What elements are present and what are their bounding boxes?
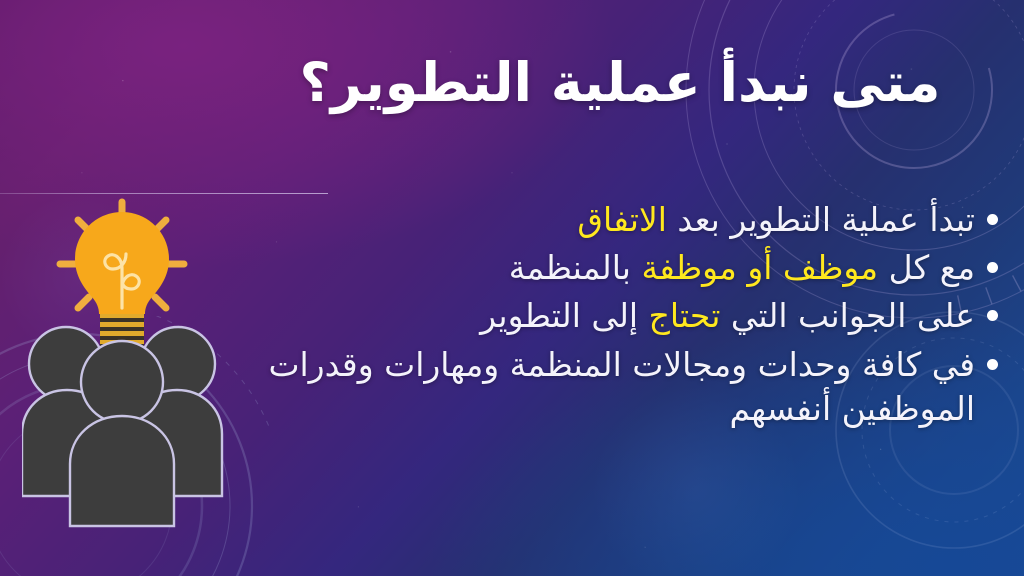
lightbulb-over-people-illustration	[22, 196, 262, 576]
bullet-text-1: تبدأ عملية التطوير بعد الاتفاق	[252, 198, 975, 242]
highlighted-phrase: تحتاج	[649, 296, 721, 335]
highlighted-phrase: الاتفاق	[577, 200, 667, 239]
highlighted-phrase: موظف أو موظفة	[641, 248, 878, 287]
plain-phrase: إلى التطوير	[480, 296, 648, 335]
bullet-text-4: في كافة وحدات ومجالات المنظمة ومهارات وق…	[252, 343, 975, 431]
list-item: في كافة وحدات ومجالات المنظمة ومهارات وق…	[252, 343, 998, 431]
list-item: مع كل موظف أو موظفة بالمنظمة	[252, 246, 998, 290]
bullet-text-2: مع كل موظف أو موظفة بالمنظمة	[252, 246, 975, 290]
plain-phrase: مع كل	[878, 248, 975, 287]
bullet-dot-icon	[987, 310, 998, 321]
bullet-dot-icon	[987, 214, 998, 225]
header-divider	[0, 193, 328, 194]
plain-phrase: على الجوانب التي	[720, 296, 975, 335]
bullet-text-3: على الجوانب التي تحتاج إلى التطوير	[252, 294, 975, 338]
bullet-dot-icon	[987, 262, 998, 273]
person-silhouette-center	[70, 341, 174, 526]
plain-phrase: بالمنظمة	[509, 248, 642, 287]
list-item: تبدأ عملية التطوير بعد الاتفاق	[252, 198, 998, 242]
slide-canvas: متى نبدأ عملية التطوير؟	[0, 0, 1024, 576]
bullet-list: تبدأ عملية التطوير بعد الاتفاق مع كل موظ…	[252, 198, 998, 435]
bullet-dot-icon	[987, 359, 998, 370]
plain-phrase: في كافة وحدات ومجالات المنظمة ومهارات وق…	[258, 345, 975, 428]
list-item: على الجوانب التي تحتاج إلى التطوير	[252, 294, 998, 338]
plain-phrase: تبدأ عملية التطوير بعد	[667, 200, 975, 239]
page-title: متى نبدأ عملية التطوير؟	[250, 52, 990, 114]
